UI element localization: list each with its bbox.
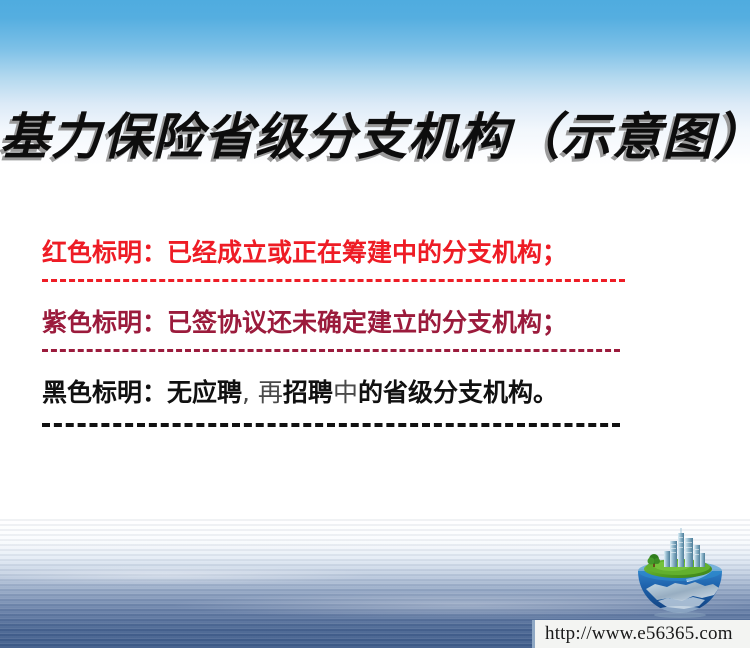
legend-label-purple: 紫色标明：已签协议还未确定建立的分支机构； xyxy=(42,306,662,340)
watermark-url-text: http://www.e56365.com xyxy=(535,623,733,645)
legend-black-segment-2: 招聘 xyxy=(283,378,333,407)
divider-black xyxy=(42,423,620,427)
legend-label-black: 黑色标明：无应聘, 再招聘中的省级分支机构。 xyxy=(42,376,662,410)
legend-spacer-2 xyxy=(42,352,662,376)
legend-black-segment-faint-2: 中 xyxy=(333,378,358,407)
legend-black-segment-faint: , 再 xyxy=(242,378,283,407)
legend-black-segment-1: 黑色标明：无应聘 xyxy=(42,378,242,407)
presentation-slide: 基力保险省级分支机构（示意图） 红色标明：已经成立或正在筹建中的分支机构； 紫色… xyxy=(0,0,750,648)
legend-spacer-1 xyxy=(42,282,662,306)
legend-block: 红色标明：已经成立或正在筹建中的分支机构； 紫色标明：已签协议还未确定建立的分支… xyxy=(42,236,662,427)
legend-row-purple: 紫色标明：已签协议还未确定建立的分支机构； xyxy=(42,306,662,352)
watermark-url-bar: http://www.e56365.com xyxy=(532,620,750,648)
globe-city-logo-icon xyxy=(628,527,732,619)
legend-black-segment-3: 的省级分支机构。 xyxy=(358,378,558,407)
legend-row-black: 黑色标明：无应聘, 再招聘中的省级分支机构。 xyxy=(42,376,662,427)
divider-red xyxy=(42,279,625,282)
divider-purple xyxy=(42,349,620,352)
legend-label-red: 红色标明：已经成立或正在筹建中的分支机构； xyxy=(42,236,662,270)
legend-row-red: 红色标明：已经成立或正在筹建中的分支机构； xyxy=(42,236,662,282)
slide-title: 基力保险省级分支机构（示意图） xyxy=(0,97,750,169)
